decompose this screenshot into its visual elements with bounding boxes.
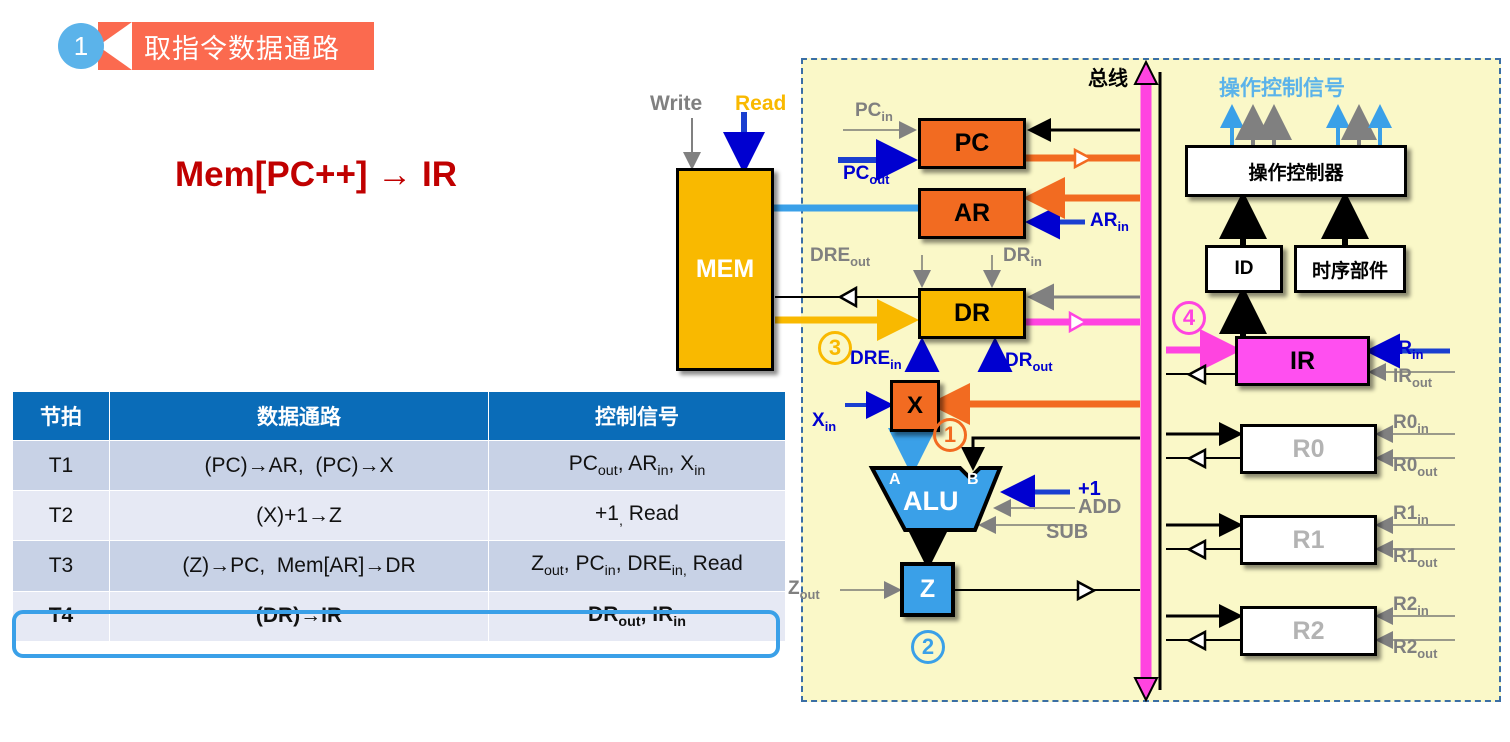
id-decoder-block: ID bbox=[1205, 245, 1283, 293]
r0-register-block: R0 bbox=[1240, 424, 1377, 474]
sub-signal-label: SUB bbox=[1046, 521, 1088, 544]
write-label: Write bbox=[650, 92, 702, 116]
step-marker-3: 3 bbox=[818, 331, 852, 365]
operation-controller-block: 操作控制器 bbox=[1185, 145, 1407, 197]
ir-out-signal-label: IRout bbox=[1393, 366, 1432, 390]
pc-register-block: PC bbox=[918, 118, 1026, 169]
control-signal-label: 操作控制信号 bbox=[1219, 72, 1345, 102]
z-out-signal-label: Zout bbox=[788, 578, 820, 602]
r0-out-signal-label: R0out bbox=[1393, 455, 1437, 479]
mem-block: MEM bbox=[676, 168, 774, 371]
alu-label: ALU bbox=[903, 486, 959, 517]
step-marker-4: 4 bbox=[1172, 301, 1206, 335]
read-label: Read bbox=[735, 92, 786, 116]
ar-in-signal-label: ARin bbox=[1090, 210, 1129, 234]
alu-port-a-label: A bbox=[889, 471, 901, 489]
bus-label: 总线 bbox=[1088, 62, 1128, 91]
r1-in-signal-label: R1in bbox=[1393, 503, 1429, 527]
r2-out-signal-label: R2out bbox=[1393, 637, 1437, 661]
pc-out-signal-label: PCout bbox=[843, 163, 889, 187]
dr-out-signal-label: DRout bbox=[1005, 350, 1053, 374]
dre-out-signal-label: DREout bbox=[810, 245, 870, 269]
add-signal-label: ADD bbox=[1078, 496, 1121, 519]
x-in-signal-label: Xin bbox=[812, 410, 836, 434]
ir-register-block: IR bbox=[1235, 336, 1370, 386]
r2-in-signal-label: R2in bbox=[1393, 594, 1429, 618]
r0-in-signal-label: R0in bbox=[1393, 412, 1429, 436]
z-register-block: Z bbox=[900, 562, 955, 617]
r2-register-block: R2 bbox=[1240, 606, 1377, 656]
step-marker-2: 2 bbox=[911, 630, 945, 664]
dr-in-signal-label: DRin bbox=[1003, 245, 1042, 269]
dr-register-block: DR bbox=[918, 288, 1026, 339]
pc-in-signal-label: PCin bbox=[855, 100, 893, 124]
step-marker-1: 1 bbox=[933, 418, 967, 452]
alu-port-b-label: B bbox=[967, 471, 979, 489]
timing-unit-block: 时序部件 bbox=[1294, 245, 1406, 293]
r1-out-signal-label: R1out bbox=[1393, 546, 1437, 570]
dre-in-signal-label: DREin bbox=[850, 348, 902, 372]
step-number-badge: 1 bbox=[58, 23, 104, 69]
datapath-diagram: MEM PC AR DR X Z IR ID 时序部件 操作控制器 R0 R1 … bbox=[0, 0, 1510, 742]
x-register-block: X bbox=[890, 380, 940, 432]
r1-register-block: R1 bbox=[1240, 515, 1377, 565]
ar-register-block: AR bbox=[918, 188, 1026, 239]
ir-in-signal-label: IRin bbox=[1393, 338, 1423, 362]
